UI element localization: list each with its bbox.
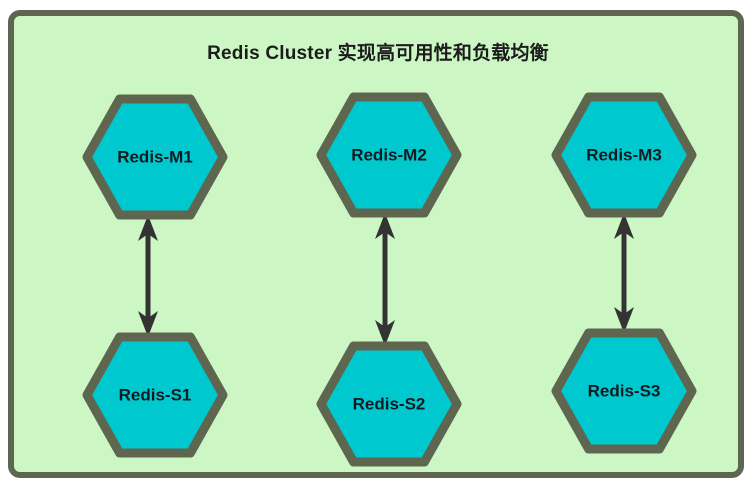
redis-cluster-diagram: Redis Cluster 实现高可用性和负载均衡 Redis-M1Redis-… (0, 0, 756, 490)
hexagon-shape (87, 99, 223, 215)
node-redis-s2[interactable]: Redis-S2 (321, 346, 457, 462)
nodes-layer: Redis-M1Redis-M2Redis-M3Redis-S1Redis-S2… (87, 97, 692, 462)
hexagon-shape (556, 333, 692, 449)
edge-redis-m1-redis-s1 (138, 215, 158, 337)
node-redis-s3[interactable]: Redis-S3 (556, 333, 692, 449)
diagram-canvas: Redis-M1Redis-M2Redis-M3Redis-S1Redis-S2… (0, 0, 756, 490)
node-redis-m2[interactable]: Redis-M2 (321, 97, 457, 213)
node-redis-m3[interactable]: Redis-M3 (556, 97, 692, 213)
node-redis-m1[interactable]: Redis-M1 (87, 99, 223, 215)
edges-layer (138, 213, 634, 346)
hexagon-shape (556, 97, 692, 213)
hexagon-shape (87, 337, 223, 453)
edge-redis-m3-redis-s3 (614, 213, 634, 333)
node-redis-s1[interactable]: Redis-S1 (87, 337, 223, 453)
hexagon-shape (321, 346, 457, 462)
hexagon-shape (321, 97, 457, 213)
edge-redis-m2-redis-s2 (375, 213, 395, 346)
